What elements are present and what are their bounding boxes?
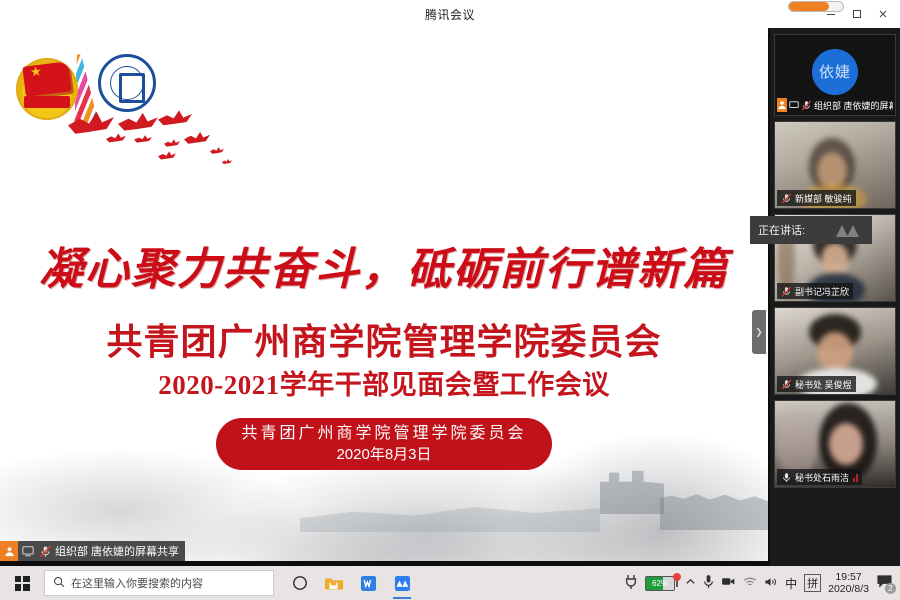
- collapse-panel-handle[interactable]: ❯: [752, 310, 766, 354]
- file-explorer-icon[interactable]: [322, 570, 346, 596]
- ime-layout-indicator[interactable]: 拼: [804, 574, 821, 592]
- notification-count-badge: 2: [885, 583, 896, 594]
- battery-percent-label: 62%: [646, 576, 674, 591]
- minimize-icon[interactable]: [818, 1, 844, 27]
- screen: 腾讯会议: [0, 0, 900, 600]
- mic-icon: [779, 470, 793, 484]
- dove-icon: [164, 138, 180, 148]
- wifi-icon[interactable]: [743, 576, 757, 591]
- tile-name-bar: 秘书处 吴俊煜: [777, 376, 856, 392]
- wps-icon[interactable]: [356, 570, 380, 596]
- dove-icon: [210, 146, 224, 155]
- dove-icon: [222, 158, 232, 165]
- dove-icon: [106, 132, 126, 144]
- clock[interactable]: 19:57 2020/8/3: [828, 571, 869, 595]
- close-icon[interactable]: [870, 1, 896, 27]
- tile-name-bar: 新媒部 敏骏纯: [777, 190, 856, 206]
- maximize-icon[interactable]: [844, 1, 870, 27]
- tile-name-bar: 副书记冯芷欣: [777, 283, 853, 299]
- windows-logo-icon: [15, 576, 30, 591]
- taskbar-app-icons: [288, 570, 414, 596]
- university-emblem-icon: [98, 54, 156, 112]
- camera-icon[interactable]: [721, 576, 736, 590]
- participant-tile[interactable]: 新媒部 敏骏纯: [774, 121, 896, 209]
- dove-icon: [184, 130, 210, 146]
- slide-main-title: 凝心聚力共奋斗，砥砺前行谱新篇: [0, 233, 768, 297]
- system-tray: 62%: [624, 566, 894, 600]
- participant-name: 组织部 唐依婕的屏幕...: [814, 99, 893, 112]
- ime-mode-indicator[interactable]: 中: [785, 575, 797, 592]
- audio-level-indicator: [853, 473, 858, 482]
- slide-organization-line: 共青团广州商学院管理学院委员会: [0, 313, 768, 365]
- person-icon: [0, 541, 18, 561]
- dove-icon: [158, 150, 176, 161]
- participant-tile[interactable]: 秘书处 吴俊煜: [774, 307, 896, 395]
- taskbar-search-input[interactable]: 在这里输入你要搜索的内容: [44, 570, 274, 596]
- mic-muted-icon: [779, 377, 793, 391]
- participant-name: 副书记冯芷欣: [795, 285, 849, 298]
- dove-icon: [118, 110, 158, 134]
- dove-icon: [134, 134, 152, 144]
- slide-subtitle: 2020-2021学年干部见面会暨工作会议: [0, 363, 768, 402]
- clock-date: 2020/8/3: [828, 583, 869, 595]
- tile-name-bar: 组织部 唐依婕的屏幕...: [777, 97, 893, 113]
- participant-tile[interactable]: 秘书处石雨洁: [774, 400, 896, 488]
- mic-muted-icon: [779, 191, 793, 205]
- mic-muted-icon: [779, 284, 793, 298]
- clock-time: 19:57: [828, 571, 869, 583]
- badge-line-2: 2020年8月3日: [336, 445, 431, 465]
- microphone-icon[interactable]: [703, 574, 714, 592]
- screen-share-icon: [21, 544, 35, 558]
- tile-name-bar: 秘书处石雨洁: [777, 469, 862, 485]
- participant-name: 秘书处石雨洁: [795, 471, 849, 484]
- notification-center-icon[interactable]: 2: [876, 574, 894, 592]
- windows-taskbar: 在这里输入你要搜索的内容: [0, 566, 900, 600]
- youth-league-emblem-icon: [16, 58, 78, 120]
- screen-share-owner-name: 组织部 唐依婕的屏幕共享: [55, 543, 179, 559]
- speaking-banner: 正在讲话:: [750, 216, 872, 244]
- speaking-label: 正在讲话:: [758, 222, 805, 238]
- screen-share-icon: [789, 98, 799, 112]
- screen-share-owner-label: 组织部 唐依婕的屏幕共享: [0, 541, 185, 561]
- participant-tile[interactable]: 依婕 组织部 唐依: [774, 34, 896, 116]
- badge-line-1: 共青团广州商学院管理学院委员会: [241, 423, 526, 445]
- shared-screen-view[interactable]: 凝心聚力共奋斗，砥砺前行谱新篇 共青团广州商学院管理学院委员会 2020-202…: [0, 28, 768, 561]
- tencent-meeting-watermark-icon: [834, 222, 862, 238]
- participant-filmstrip[interactable]: 依婕 组织部 唐依: [770, 28, 900, 566]
- battery-alert-dot: [673, 573, 681, 581]
- person-icon: [777, 98, 787, 112]
- participant-name: 秘书处 吴俊煜: [795, 378, 852, 391]
- show-hidden-icons-chevron-up-icon[interactable]: [685, 576, 696, 590]
- tencent-meeting-icon[interactable]: [390, 570, 414, 596]
- mic-muted-icon: [801, 98, 812, 112]
- window-titlebar: 腾讯会议: [0, 0, 900, 28]
- volume-icon[interactable]: [764, 576, 778, 591]
- dove-icon: [158, 108, 192, 128]
- meeting-body: 凝心聚力共奋斗，砥砺前行谱新篇 共青团广州商学院管理学院委员会 2020-202…: [0, 28, 900, 566]
- window-title: 腾讯会议: [425, 6, 475, 23]
- participant-name: 新媒部 敏骏纯: [795, 192, 852, 205]
- search-icon: [53, 576, 65, 591]
- slide-footer-badge: 共青团广州商学院管理学院委员会 2020年8月3日: [216, 418, 552, 470]
- emblem-group: [10, 46, 210, 156]
- battery-status-icon[interactable]: 62%: [645, 576, 678, 591]
- cortana-icon[interactable]: [288, 570, 312, 596]
- search-placeholder-text: 在这里输入你要搜索的内容: [71, 575, 203, 591]
- start-button[interactable]: [0, 566, 44, 600]
- window-controls: [818, 0, 896, 28]
- power-plug-icon[interactable]: [624, 574, 638, 593]
- avatar: 依婕: [812, 49, 858, 95]
- mic-muted-icon: [38, 544, 52, 558]
